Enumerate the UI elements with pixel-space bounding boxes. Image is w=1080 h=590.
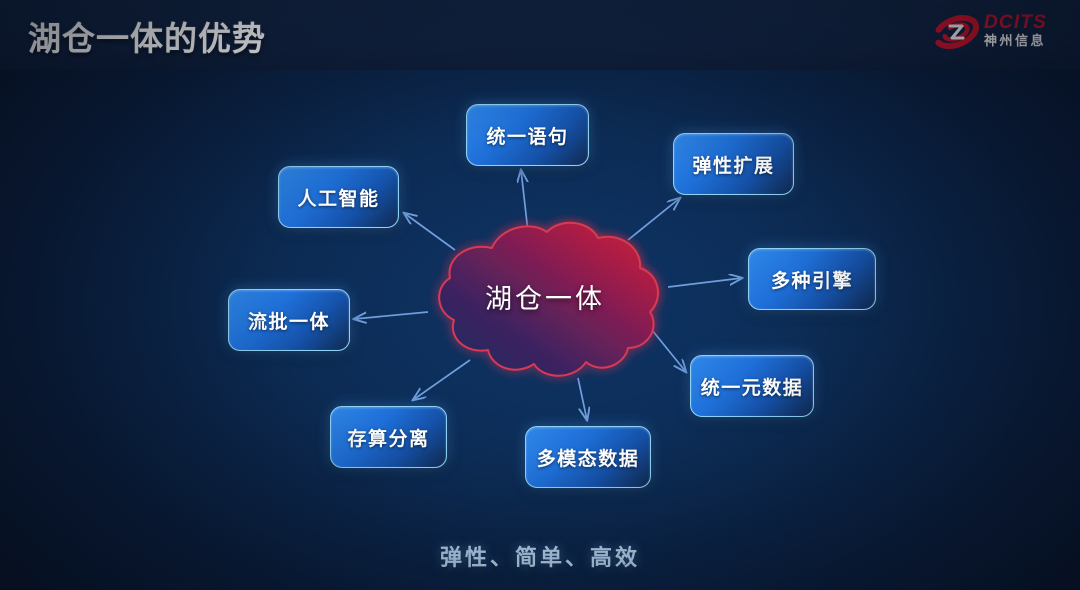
slide-canvas: 湖仓一体的优势 DCITS 神州信息	[0, 0, 1080, 590]
node-unified-syntax[interactable]: 统一语句	[466, 104, 589, 166]
node-unified-metadata[interactable]: 统一元数据	[690, 355, 814, 417]
node-multimodal-data[interactable]: 多模态数据	[525, 426, 651, 488]
node-elastic-scaling[interactable]: 弹性扩展	[673, 133, 794, 195]
node-stream-batch-unified[interactable]: 流批一体	[228, 289, 350, 351]
cloud-shape-icon	[414, 214, 676, 386]
node-artificial-intelligence[interactable]: 人工智能	[278, 166, 399, 228]
connector-multi-engine	[668, 278, 742, 287]
node-storage-compute-separation[interactable]: 存算分离	[330, 406, 447, 468]
node-multi-engine[interactable]: 多种引擎	[748, 248, 876, 310]
footer-caption: 弹性、简单、高效	[0, 540, 1080, 572]
advantages-diagram: 湖仓一体 统一语句 弹性扩展 多种引擎 统一元数据 多模态数据 存算分离 流批一…	[0, 0, 1080, 590]
center-cloud: 湖仓一体	[414, 214, 676, 386]
